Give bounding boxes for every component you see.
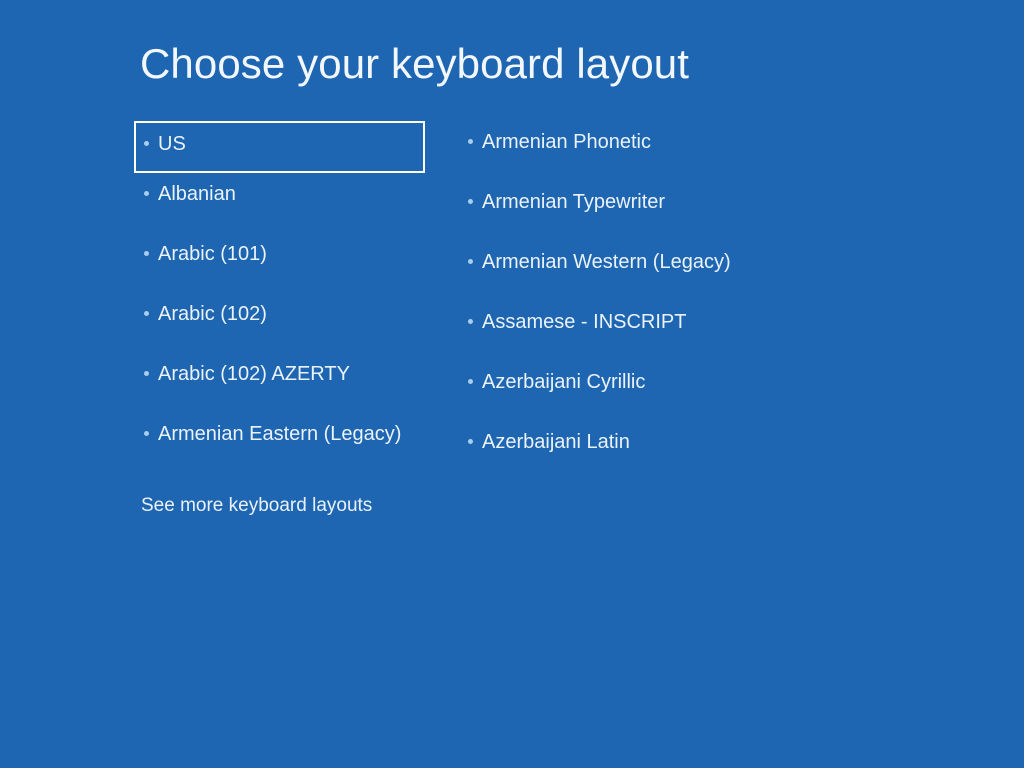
keyboard-layout-label: Armenian Eastern (Legacy) [158, 421, 401, 447]
bullet-dot-icon [144, 191, 149, 196]
bullet-dot-icon [468, 199, 473, 204]
keyboard-layout-label: Armenian Typewriter [482, 189, 665, 215]
bullet-dot-icon [144, 371, 149, 376]
keyboard-layout-label: Arabic (102) AZERTY [158, 361, 350, 387]
keyboard-layout-option-armenian-western-legacy[interactable]: Armenian Western (Legacy) [462, 241, 802, 301]
page-title: Choose your keyboard layout [140, 38, 689, 90]
keyboard-layout-label: Armenian Phonetic [482, 129, 651, 155]
keyboard-layout-label: Albanian [158, 181, 236, 207]
keyboard-layout-label: Assamese - INSCRIPT [482, 309, 686, 335]
keyboard-layout-option-armenian-eastern-legacy[interactable]: Armenian Eastern (Legacy) [134, 413, 434, 473]
bullet-dot-icon [144, 431, 149, 436]
keyboard-layout-option-armenian-phonetic[interactable]: Armenian Phonetic [462, 121, 802, 181]
keyboard-layout-option-albanian[interactable]: Albanian [134, 173, 434, 233]
keyboard-layout-option-arabic-102[interactable]: Arabic (102) [134, 293, 434, 353]
bullet-dot-icon [468, 439, 473, 444]
bullet-dot-icon [468, 319, 473, 324]
see-more-keyboard-layouts-link[interactable]: See more keyboard layouts [141, 493, 372, 519]
bullet-dot-icon [468, 259, 473, 264]
keyboard-layout-option-armenian-typewriter[interactable]: Armenian Typewriter [462, 181, 802, 241]
keyboard-layout-option-arabic-102-azerty[interactable]: Arabic (102) AZERTY [134, 353, 434, 413]
bullet-dot-icon [144, 311, 149, 316]
keyboard-layout-column-left: US Albanian Arabic (101) Arabic (102) Ar… [134, 121, 434, 473]
keyboard-layout-option-azerbaijani-latin[interactable]: Azerbaijani Latin [462, 421, 802, 481]
keyboard-layout-option-us[interactable]: US [134, 121, 425, 173]
keyboard-layout-column-right: Armenian Phonetic Armenian Typewriter Ar… [462, 121, 802, 481]
keyboard-layout-label: Armenian Western (Legacy) [482, 249, 731, 275]
keyboard-layout-label: Azerbaijani Latin [482, 429, 630, 455]
keyboard-layout-label: Arabic (102) [158, 301, 267, 327]
bullet-dot-icon [468, 379, 473, 384]
keyboard-layout-option-assamese-inscript[interactable]: Assamese - INSCRIPT [462, 301, 802, 361]
choose-keyboard-layout-screen: Choose your keyboard layout US Albanian … [0, 0, 1024, 768]
bullet-dot-icon [144, 141, 149, 146]
keyboard-layout-label: Azerbaijani Cyrillic [482, 369, 645, 395]
keyboard-layout-option-arabic-101[interactable]: Arabic (101) [134, 233, 434, 293]
keyboard-layout-label: Arabic (101) [158, 241, 267, 267]
bullet-dot-icon [144, 251, 149, 256]
keyboard-layout-option-azerbaijani-cyrillic[interactable]: Azerbaijani Cyrillic [462, 361, 802, 421]
bullet-dot-icon [468, 139, 473, 144]
keyboard-layout-label: US [158, 131, 186, 157]
